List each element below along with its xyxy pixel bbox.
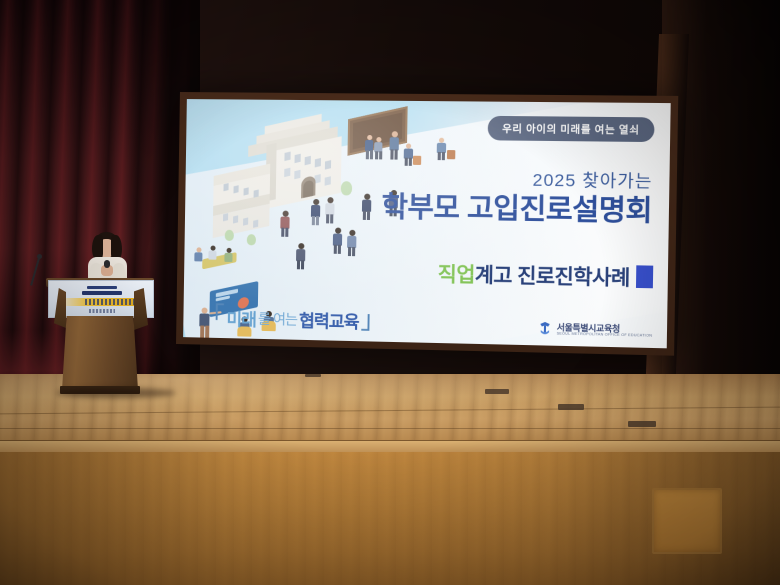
podium-sign-line-top bbox=[87, 286, 117, 289]
projection-screen-frame: 우리 아이의 미래를 여는 열쇠 2025 찾아가는 학부모 고입진로설명회 직… bbox=[176, 92, 678, 356]
tree-icon bbox=[225, 230, 234, 241]
office-logo-text: 서울특별시교육청 SEOUL METROPOLITAN OFFICE OF ED… bbox=[557, 323, 653, 338]
slide-badge: 우리 아이의 미래를 여는 열쇠 bbox=[487, 116, 654, 142]
student-figure bbox=[279, 211, 292, 237]
slide-slogan: 「 미래 를 여는 협력교육 」 bbox=[199, 304, 386, 333]
podium-shadow bbox=[56, 388, 176, 398]
headline-main-line: 학부모 고입진로설명회 bbox=[381, 192, 652, 226]
slide-subtitle: 직업계고 진로진학사례 bbox=[438, 258, 654, 292]
student-figure bbox=[295, 243, 308, 269]
tree-icon bbox=[247, 234, 256, 245]
student-figure bbox=[324, 197, 337, 223]
student-figure bbox=[346, 230, 359, 256]
office-logo: 서울특별시교육청 SEOUL METROPOLITAN OFFICE OF ED… bbox=[538, 321, 653, 340]
subtitle-accent-block bbox=[636, 265, 653, 288]
auditorium-photo: 우리 아이의 미래를 여는 열쇠 2025 찾아가는 학부모 고입진로설명회 직… bbox=[0, 0, 780, 585]
student-figure bbox=[361, 194, 374, 220]
subtitle-rest-word: 계고 진로진학사례 bbox=[475, 264, 630, 289]
seated-figure bbox=[208, 246, 218, 264]
headline-year-line: 2025 찾아가는 bbox=[382, 163, 653, 192]
subtitle-accent-word: 직업 bbox=[438, 264, 475, 287]
seoul-education-emblem-icon bbox=[538, 321, 553, 338]
microphone-stand-head-icon bbox=[37, 254, 42, 259]
podium bbox=[36, 236, 166, 396]
floor-vent bbox=[485, 389, 509, 394]
slogan-part-c: 협력교육 bbox=[299, 307, 359, 334]
office-logo-english: SEOUL METROPOLITAN OFFICE OF EDUCATION bbox=[557, 332, 653, 338]
floor-seam bbox=[0, 428, 780, 429]
seated-figure bbox=[194, 247, 204, 265]
student-figure bbox=[374, 137, 385, 159]
projection-screen-surface: 우리 아이의 미래를 여는 열쇠 2025 찾아가는 학부모 고입진로설명회 직… bbox=[183, 99, 671, 348]
student-figure bbox=[332, 227, 345, 253]
stage-access-panel bbox=[652, 488, 722, 554]
student-figure bbox=[310, 199, 323, 225]
floor-vent bbox=[305, 374, 321, 377]
podium-sign-line-title bbox=[82, 291, 122, 295]
presentation-slide: 우리 아이의 미래를 여는 열쇠 2025 찾아가는 학부모 고입진로설명회 직… bbox=[183, 99, 671, 348]
floor-vent bbox=[628, 421, 656, 427]
podium-body bbox=[62, 316, 138, 390]
speaker-person bbox=[84, 232, 130, 284]
teacher-figure bbox=[388, 131, 401, 160]
slide-headline: 2025 찾아가는 학부모 고입진로설명회 bbox=[381, 163, 652, 225]
slogan-open-bracket: 「 bbox=[199, 306, 224, 329]
slogan-close-bracket: 」 bbox=[360, 309, 386, 332]
podium-sign-band-text bbox=[85, 299, 137, 305]
seated-figure bbox=[224, 248, 234, 266]
subtitle-text-group: 직업계고 진로진학사례 bbox=[438, 258, 630, 291]
podium-sign-logo bbox=[89, 309, 115, 313]
floor-vent bbox=[558, 404, 584, 410]
slogan-part-a: 미래 bbox=[226, 305, 256, 331]
outdoor-table-illustration bbox=[190, 245, 251, 280]
handheld-microphone-icon bbox=[104, 260, 110, 268]
slogan-part-b: 를 여는 bbox=[258, 308, 297, 329]
